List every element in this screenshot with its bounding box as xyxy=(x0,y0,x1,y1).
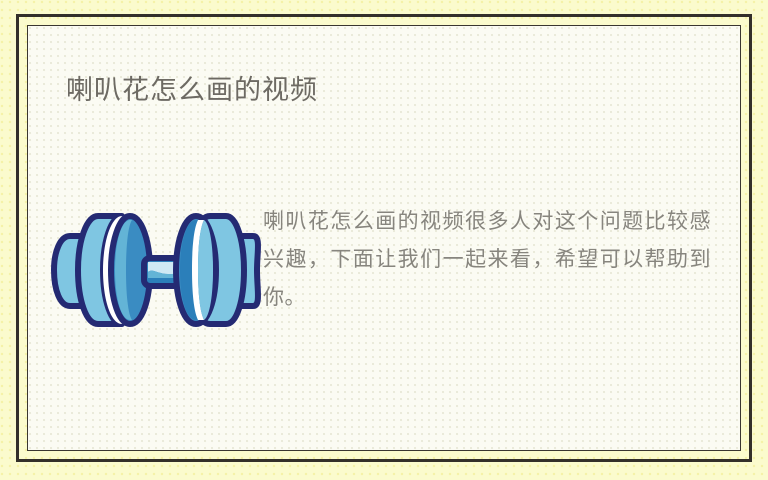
content-row: 喇叭花怎么画的视频很多人对这个问题比较感兴趣，下面让我们一起来看，希望可以帮助到… xyxy=(28,194,741,384)
page-root: 喇叭花怎么画的视频 xyxy=(0,0,768,480)
article-card: 喇叭花怎么画的视频 xyxy=(27,25,741,451)
dumbbell-icon xyxy=(48,194,263,344)
dumbbell-illustration xyxy=(48,194,263,344)
article-body-text: 喇叭花怎么画的视频很多人对这个问题比较感兴趣，下面让我们一起来看，希望可以帮助到… xyxy=(263,202,711,316)
page-title: 喇叭花怎么画的视频 xyxy=(66,68,318,107)
